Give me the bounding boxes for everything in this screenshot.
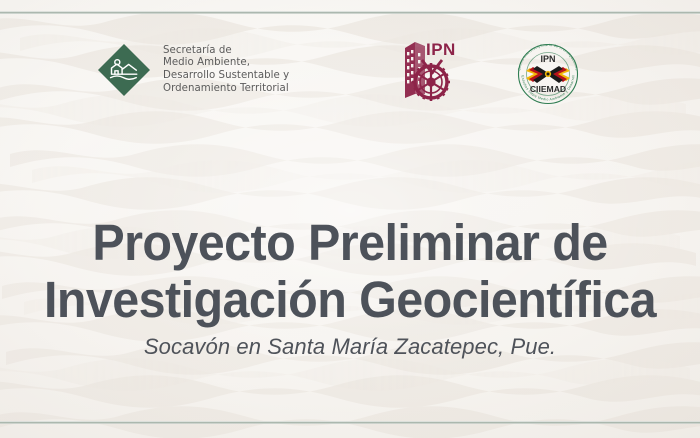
ipn-emblem-icon: IPN [401, 32, 461, 108]
ciiemad-emblem-icon: Centro Interdisciplinario de Investigaci… [508, 34, 588, 114]
semarnat-line-3: Desarrollo Sustentable y [163, 70, 289, 83]
logo-row: Secretaría de Medio Ambiente, Desarrollo… [0, 32, 700, 110]
ciiemad-top-label: IPN [540, 54, 555, 64]
ciiemad-figures [526, 66, 570, 83]
ipn-logo: IPN [401, 32, 461, 108]
semarnat-wordmark: Secretaría de Medio Ambiente, Desarrollo… [163, 45, 289, 95]
semarnat-line-4: Ordenamiento Territorial [163, 83, 289, 96]
ipn-letters: IPN [426, 40, 456, 59]
top-divider-rule [0, 11, 700, 14]
slide-title: Proyecto Preliminar de Investigación Geo… [18, 214, 683, 328]
semarnat-diamond-mark [98, 44, 150, 96]
ciiemad-logo: Centro Interdisciplinario de Investigaci… [508, 34, 588, 114]
slide-title-line-1: Proyecto Preliminar de [18, 214, 683, 271]
slide-title-line-2: Investigación Geocientífica [18, 271, 683, 328]
slide-subtitle: Socavón en Santa María Zacatepec, Pue. [0, 333, 700, 361]
semarnat-line-1: Secretaría de [163, 45, 289, 58]
bottom-divider-rule [0, 421, 700, 424]
semarnat-logo: Secretaría de Medio Ambiente, Desarrollo… [98, 44, 289, 96]
presentation-title-slide: Secretaría de Medio Ambiente, Desarrollo… [0, 0, 700, 438]
ciiemad-bottom-label: CIIEMAD [530, 84, 566, 94]
semarnat-line-2: Medio Ambiente, [163, 57, 289, 70]
house-landscape-icon [98, 44, 150, 96]
